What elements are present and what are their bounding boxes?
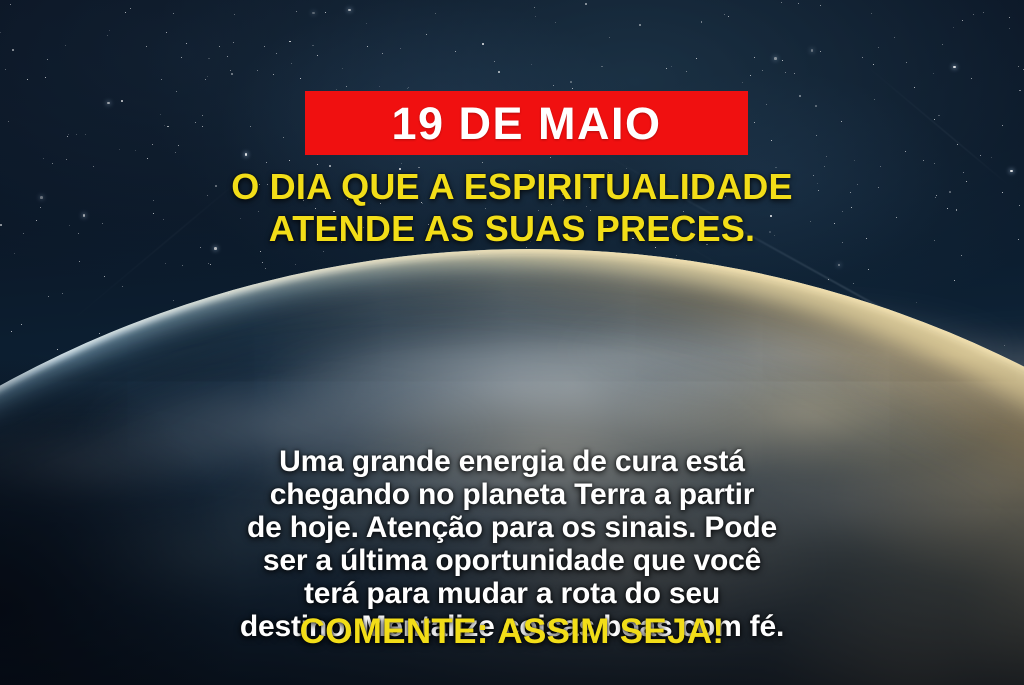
body-line-3: de hoje. Atenção para os sinais. Pode (0, 511, 1024, 544)
date-banner-label: 19 DE MAIO (391, 101, 661, 146)
call-to-action: COMENTE: ASSIM SEJA! (0, 614, 1024, 649)
body-line-5: terá para mudar a rota do seu (0, 577, 1024, 610)
headline-line-2: ATENDE AS SUAS PRECES. (0, 208, 1024, 250)
body-line-4: ser a última oportunidade que você (0, 544, 1024, 577)
call-to-action-label: COMENTE: ASSIM SEJA! (300, 612, 725, 651)
headline: O DIA QUE A ESPIRITUALIDADE ATENDE AS SU… (0, 166, 1024, 251)
body-line-1: Uma grande energia de cura está (0, 445, 1024, 478)
headline-line-1: O DIA QUE A ESPIRITUALIDADE (0, 166, 1024, 208)
content-layer: 19 DE MAIO O DIA QUE A ESPIRITUALIDADE A… (0, 0, 1024, 685)
date-banner: 19 DE MAIO (305, 91, 748, 155)
body-line-2: chegando no planeta Terra a partir (0, 478, 1024, 511)
poster-root: 19 DE MAIO O DIA QUE A ESPIRITUALIDADE A… (0, 0, 1024, 685)
